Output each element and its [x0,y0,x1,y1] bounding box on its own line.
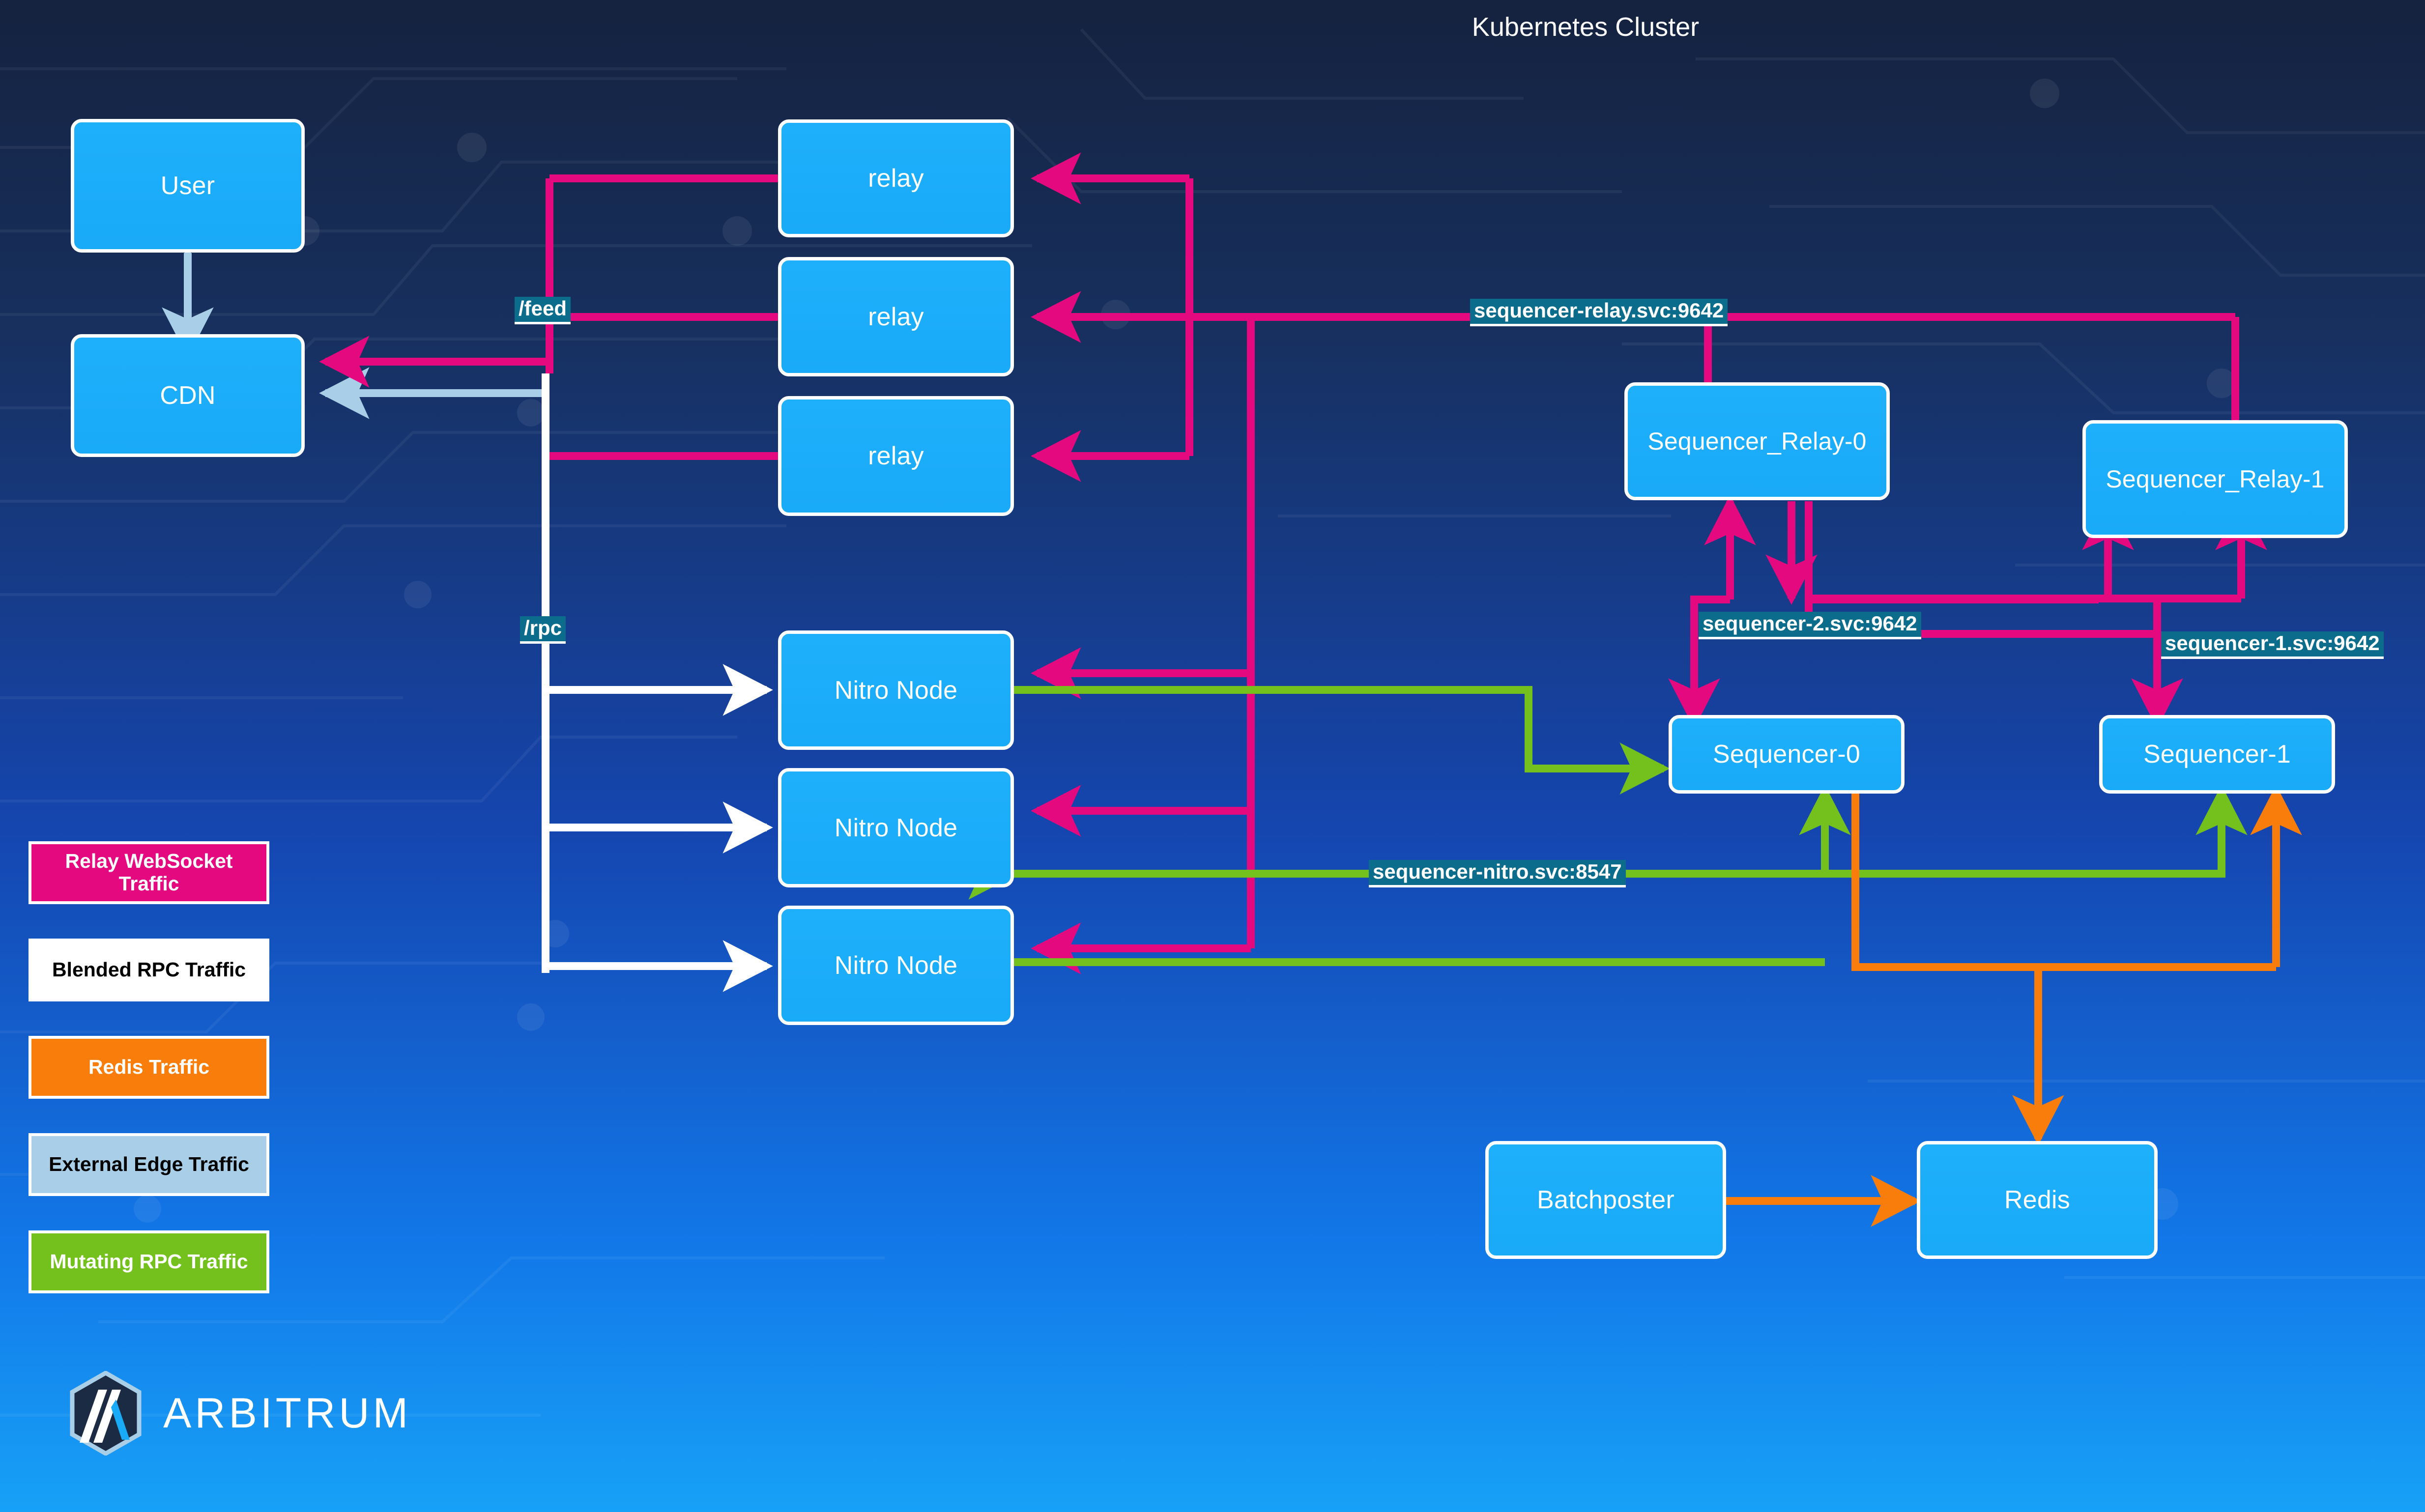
node-redis-label: Redis [2004,1185,2070,1215]
node-sequencer-0-label: Sequencer-0 [1713,740,1860,769]
node-batchposter-label: Batchposter [1537,1185,1674,1215]
node-relay-1-label: relay [868,302,924,332]
legend: Relay WebSocket Traffic Blended RPC Traf… [29,841,269,1328]
wire-rpc-trunk [546,373,767,973]
wire-mutating-rpc [1012,690,2222,962]
legend-item-external-edge[interactable]: External Edge Traffic [29,1133,269,1196]
node-batchposter[interactable]: Batchposter [1485,1141,1726,1259]
legend-item-blended-rpc-label: Blended RPC Traffic [52,959,246,981]
arbitrum-shield-icon [69,1371,143,1455]
node-nitro-2-label: Nitro Node [835,951,958,980]
legend-item-redis-label: Redis Traffic [88,1056,209,1079]
node-sequencer-1[interactable]: Sequencer-1 [2099,715,2335,794]
node-redis[interactable]: Redis [1917,1141,2158,1259]
legend-item-external-edge-label: External Edge Traffic [49,1153,249,1176]
brand-name: ARBITRUM [163,1389,411,1438]
edge-label-sequencer-relay-svc: sequencer-relay.svc:9642 [1470,299,1728,326]
edge-label-sequencer-nitro-svc: sequencer-nitro.svc:8547 [1369,860,1626,887]
node-relay-1[interactable]: relay [778,257,1014,376]
node-sequencer-relay-0-label: Sequencer_Relay-0 [1647,427,1866,456]
edge-label-rpc: /rpc [520,616,566,644]
node-sequencer-relay-1[interactable]: Sequencer_Relay-1 [2082,420,2348,538]
node-user-label: User [161,171,215,200]
edge-label-sequencer-2-svc: sequencer-2.svc:9642 [1699,612,1921,639]
node-sequencer-0[interactable]: Sequencer-0 [1669,715,1905,794]
node-nitro-2[interactable]: Nitro Node [778,906,1014,1025]
wire-feed-trunk [549,178,778,456]
legend-item-mutating-rpc[interactable]: Mutating RPC Traffic [29,1230,269,1293]
wire-relay-feed-fanin [1037,178,1251,456]
node-cdn[interactable]: CDN [71,334,305,457]
node-relay-0[interactable]: relay [778,119,1014,237]
edge-label-sequencer-1-svc: sequencer-1.svc:9642 [2161,631,2384,659]
node-user[interactable]: User [71,119,305,253]
legend-item-redis[interactable]: Redis Traffic [29,1036,269,1099]
legend-item-relay-websocket[interactable]: Relay WebSocket Traffic [29,841,269,904]
brand-logo: ARBITRUM [69,1371,411,1455]
node-sequencer-1-label: Sequencer-1 [2143,740,2291,769]
node-relay-2[interactable]: relay [778,396,1014,516]
node-sequencer-relay-0[interactable]: Sequencer_Relay-0 [1624,382,1890,500]
node-nitro-1[interactable]: Nitro Node [778,768,1014,887]
legend-item-mutating-rpc-label: Mutating RPC Traffic [50,1251,248,1273]
node-relay-0-label: relay [868,164,924,193]
node-nitro-0-label: Nitro Node [835,676,958,705]
connection-wires [0,0,2425,1512]
node-nitro-0[interactable]: Nitro Node [778,630,1014,750]
diagram-canvas: Kubernetes Cluster User CDN relay relay … [0,0,2425,1512]
edge-label-feed: /feed [515,297,571,324]
node-relay-2-label: relay [868,441,924,471]
page-title: Kubernetes Cluster [1468,12,1703,42]
wire-redis [1726,791,2276,1201]
node-cdn-label: CDN [160,381,215,410]
node-sequencer-relay-1-label: Sequencer_Relay-1 [2106,465,2324,493]
legend-item-relay-websocket-label: Relay WebSocket Traffic [36,850,261,895]
node-nitro-1-label: Nitro Node [835,813,958,843]
legend-item-blended-rpc[interactable]: Blended RPC Traffic [29,939,269,1001]
